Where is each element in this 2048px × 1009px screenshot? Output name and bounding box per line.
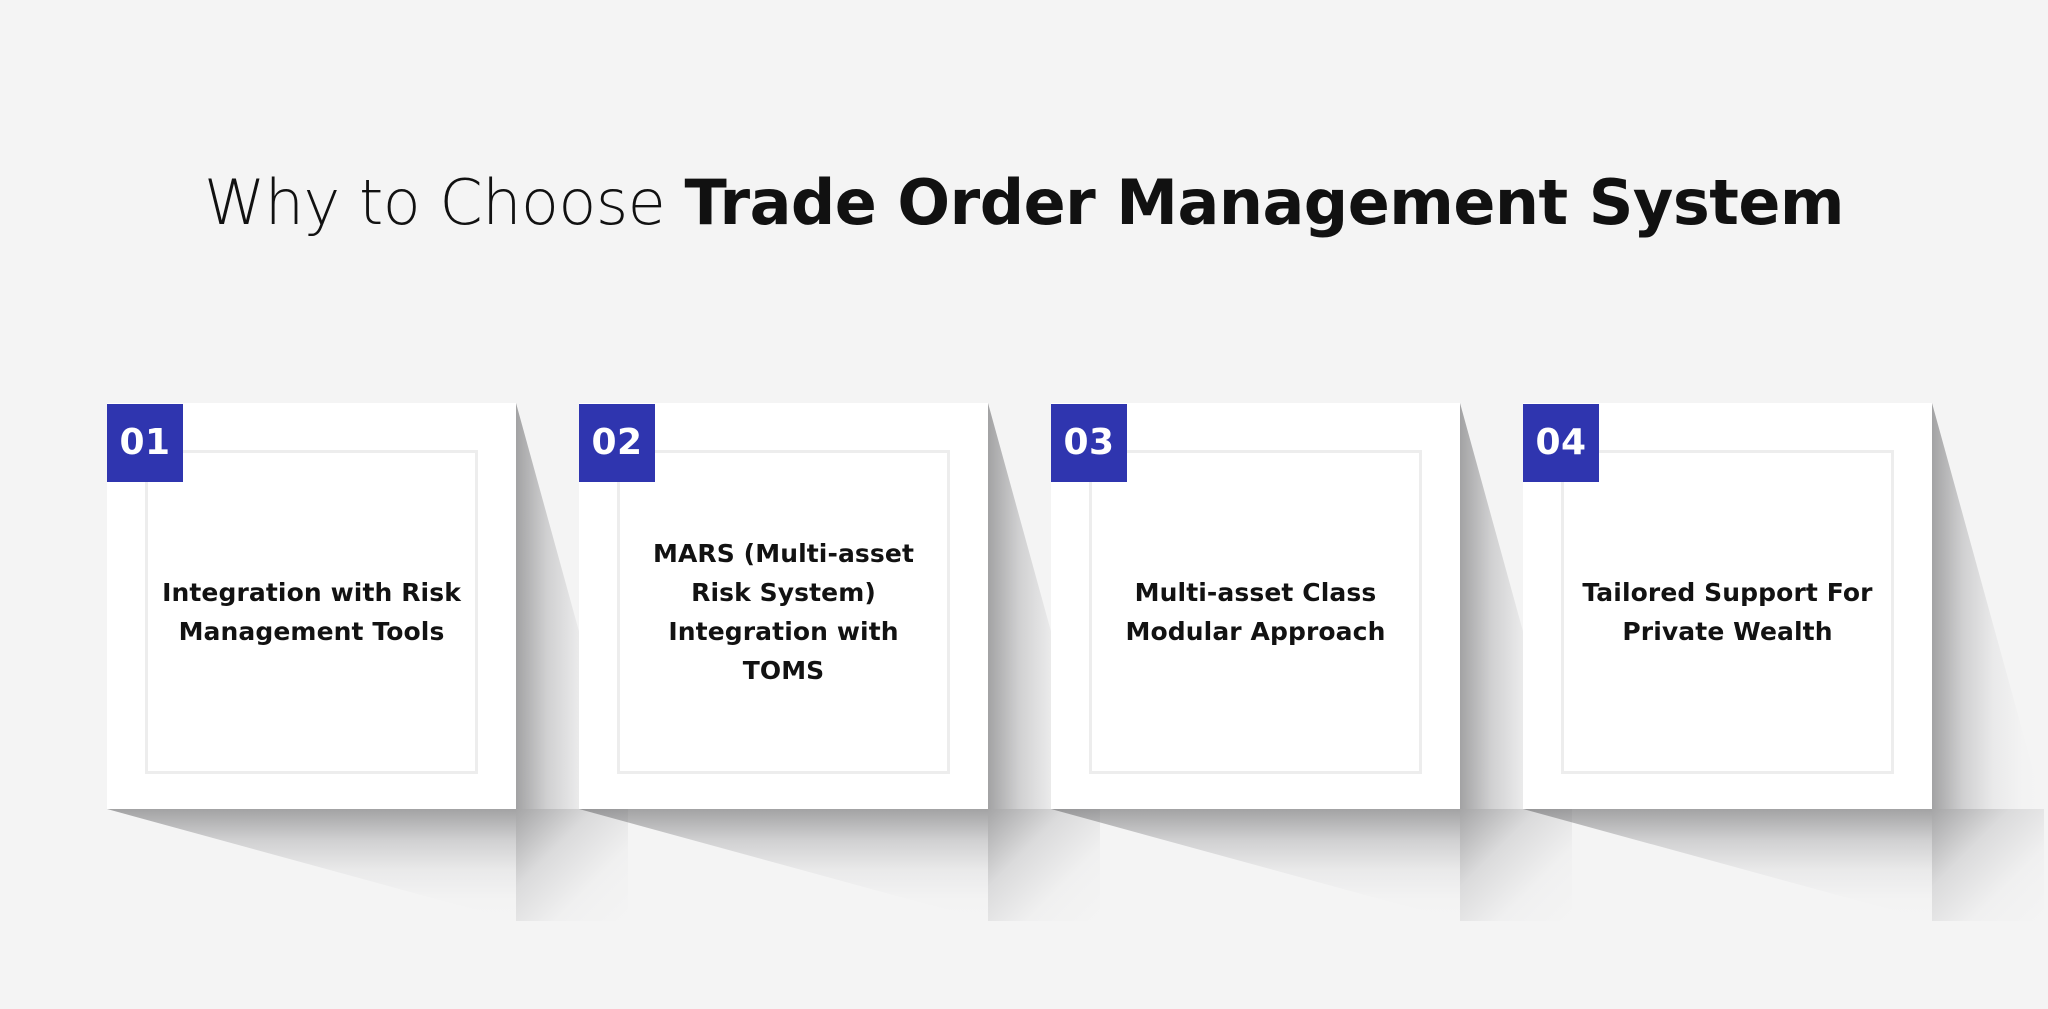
card-text: Multi-asset Class Modular Approach (1105, 573, 1406, 651)
feature-card-01[interactable]: Integration with Risk Management Tools 0… (107, 403, 516, 809)
card-number-label: 04 (1535, 425, 1586, 461)
card-number-label: 01 (119, 425, 170, 461)
feature-card-04[interactable]: Tailored Support For Private Wealth 04 (1523, 403, 1932, 809)
slide-canvas: Why to Choose Trade Order Management Sys… (0, 0, 2048, 1009)
card-body: MARS (Multi-asset Risk System) Integrati… (617, 450, 950, 774)
card-number-badge: 04 (1523, 404, 1599, 482)
feature-card-row: Integration with Risk Management Tools 0… (107, 403, 1941, 809)
card-number-badge: 03 (1051, 404, 1127, 482)
page-title: Why to Choose Trade Order Management Sys… (0, 168, 2048, 238)
feature-card-03[interactable]: Multi-asset Class Modular Approach 03 (1051, 403, 1460, 809)
page-title-light-part: Why to Choose (204, 166, 685, 239)
card-text: MARS (Multi-asset Risk System) Integrati… (633, 534, 934, 690)
card-text: Integration with Risk Management Tools (161, 573, 462, 651)
card-text: Tailored Support For Private Wealth (1577, 573, 1878, 651)
feature-card-02[interactable]: MARS (Multi-asset Risk System) Integrati… (579, 403, 988, 809)
card-body: Tailored Support For Private Wealth (1561, 450, 1894, 774)
card-number-label: 03 (1063, 425, 1114, 461)
card-number-badge: 01 (107, 404, 183, 482)
card-body: Multi-asset Class Modular Approach (1089, 450, 1422, 774)
card-number-label: 02 (591, 425, 642, 461)
card-body: Integration with Risk Management Tools (145, 450, 478, 774)
card-number-badge: 02 (579, 404, 655, 482)
page-title-bold-part: Trade Order Management System (685, 166, 1845, 239)
